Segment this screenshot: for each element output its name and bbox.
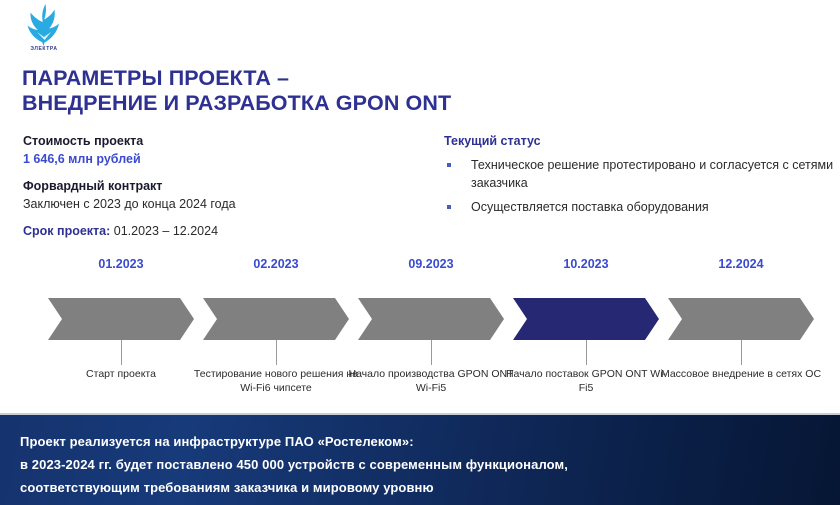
page-title-line-2: ВНЕДРЕНИЕ И РАЗРАБОТКА GPON ONT [22, 91, 762, 116]
timeline-step-4-caption: Начало поставок GPON ONT Wi-Fi5 [501, 367, 671, 395]
brand-wordmark: ЭЛЕКТРА [16, 46, 72, 52]
status-bullet-2-text: Осуществляется поставка оборудования [471, 200, 709, 214]
contract-label: Форвардный контракт [23, 177, 413, 195]
status-bullet-2: Осуществляется поставка оборудования [444, 199, 834, 217]
project-term-value: 01.2023 – 12.2024 [110, 224, 218, 238]
timeline-step-3-connector [431, 340, 432, 365]
timeline-step-1: 01.2023 Старт проекта [41, 255, 201, 273]
cost-label: Стоимость проекта [23, 132, 413, 150]
timeline-step-1-caption: Старт проекта [36, 367, 206, 381]
timeline-step-5: 12.2024 Массовое внедрение в сетях ОС [661, 255, 821, 273]
timeline-step-5-chevron [668, 298, 814, 340]
timeline-step-2-chevron [203, 298, 349, 340]
contract-value: Заключен с 2023 до конца 2024 года [23, 195, 413, 213]
project-term-label: Срок проекта: [23, 224, 110, 238]
chevron-shape [358, 298, 504, 340]
summary-banner-line-1: Проект реализуется на инфраструктуре ПАО… [20, 430, 830, 453]
current-status-block: Текущий статус Техническое решение проте… [444, 132, 834, 224]
status-bullet-1: Техническое решение протестировано и сог… [444, 157, 834, 192]
spacer [23, 168, 413, 177]
chevron-shape [48, 298, 194, 340]
page-title-line-1: ПАРАМЕТРЫ ПРОЕКТА – [22, 66, 762, 91]
project-parameters-block: Стоимость проекта 1 646,6 млн рублей Фор… [23, 132, 413, 240]
timeline-step-3-chevron [358, 298, 504, 340]
summary-banner-line-2: в 2023-2024 гг. будет поставлено 450 000… [20, 453, 830, 476]
timeline-step-3-date: 09.2023 [351, 255, 511, 273]
timeline-step-5-caption: Массовое внедрение в сетях ОС [656, 367, 826, 381]
timeline-step-3-caption: Начало производства GPON ONT Wi-Fi5 [346, 367, 516, 395]
electra-bird-logo-icon [24, 4, 64, 46]
timeline-step-5-date: 12.2024 [661, 255, 821, 273]
summary-banner: Проект реализуется на инфраструктуре ПАО… [0, 413, 840, 505]
status-bullet-1-text: Техническое решение протестировано и сог… [471, 158, 833, 190]
slide-canvas: ЭЛЕКТРА ПАРАМЕТРЫ ПРОЕКТА – ВНЕДРЕНИЕ И … [0, 0, 840, 505]
timeline-step-4-chevron [513, 298, 659, 340]
timeline-step-2: 02.2023 Тестирование нового решения на W… [196, 255, 356, 273]
project-timeline: 01.2023 Старт проекта 02.2023 Тестирован… [0, 255, 840, 405]
timeline-step-1-chevron [48, 298, 194, 340]
timeline-step-2-connector [276, 340, 277, 365]
timeline-step-1-connector [121, 340, 122, 365]
spacer [23, 213, 413, 222]
page-title: ПАРАМЕТРЫ ПРОЕКТА – ВНЕДРЕНИЕ И РАЗРАБОТ… [22, 66, 762, 116]
timeline-step-3: 09.2023 Начало производства GPON ONT Wi-… [351, 255, 511, 273]
timeline-step-4-date: 10.2023 [506, 255, 666, 273]
summary-banner-line-3: соответствующим требованиям заказчика и … [20, 476, 830, 499]
timeline-step-4-connector [586, 340, 587, 365]
brand-logo: ЭЛЕКТРА [16, 4, 72, 58]
bullet-icon [447, 205, 451, 209]
timeline-step-4: 10.2023 Начало поставок GPON ONT Wi-Fi5 [506, 255, 666, 273]
chevron-shape [668, 298, 814, 340]
chevron-shape-active [513, 298, 659, 340]
chevron-shape [203, 298, 349, 340]
status-heading: Текущий статус [444, 132, 834, 150]
bullet-icon [447, 163, 451, 167]
project-term: Срок проекта: 01.2023 – 12.2024 [23, 222, 413, 240]
timeline-step-1-date: 01.2023 [41, 255, 201, 273]
cost-value: 1 646,6 млн рублей [23, 150, 413, 168]
timeline-step-2-date: 02.2023 [196, 255, 356, 273]
summary-banner-text: Проект реализуется на инфраструктуре ПАО… [20, 430, 830, 499]
timeline-step-5-connector [741, 340, 742, 365]
timeline-step-2-caption: Тестирование нового решения на Wi-Fi6 чи… [191, 367, 361, 395]
